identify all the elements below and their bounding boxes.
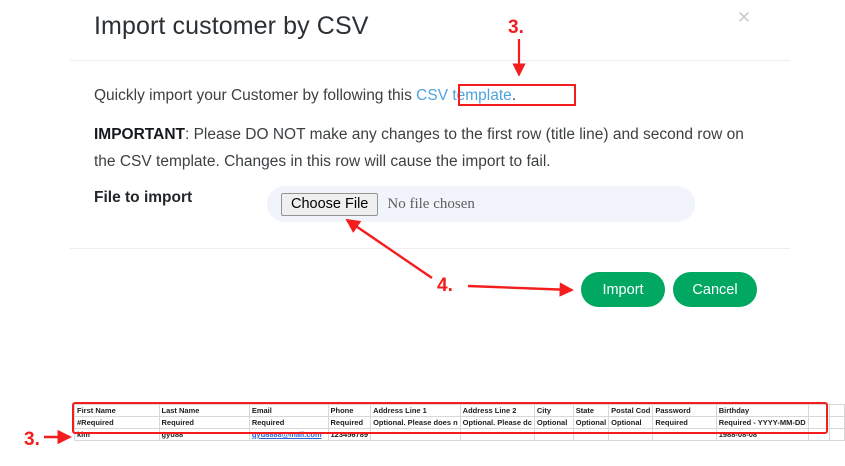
table-row: kimgyu88gyu8888@mail.com1234567891988-08… xyxy=(75,429,845,441)
table-cell: 1988-08-08 xyxy=(716,429,808,441)
table-cell: First Name xyxy=(75,405,160,417)
table-cell: Optional. Please dc xyxy=(460,417,534,429)
table-cell: Address Line 1 xyxy=(371,405,461,417)
lead-text-before: Quickly import your Customer by followin… xyxy=(94,87,416,104)
file-input-field[interactable]: Choose File No file chosen xyxy=(267,186,695,222)
table-cell: Required xyxy=(159,417,249,429)
table-cell xyxy=(808,429,830,441)
table-cell: Address Line 2 xyxy=(460,405,534,417)
modal-body-text: Quickly import your Customer by followin… xyxy=(94,82,744,175)
table-cell xyxy=(371,429,461,441)
no-file-chosen-text: No file chosen xyxy=(387,196,474,213)
table-cell xyxy=(573,429,608,441)
email-link[interactable]: gyu8888@mail.com xyxy=(252,430,322,439)
important-text: : Please DO NOT make any changes to the … xyxy=(94,126,744,170)
table-cell: Required xyxy=(249,417,328,429)
table-cell: Birthday xyxy=(716,405,808,417)
table-cell: Required xyxy=(653,417,716,429)
csv-preview-table: First NameLast NameEmailPhoneAddress Lin… xyxy=(74,404,845,441)
file-to-import-label: File to import xyxy=(94,189,192,207)
table-cell: #Required xyxy=(75,417,160,429)
table-cell: City xyxy=(534,405,573,417)
csv-link-highlight-box xyxy=(458,84,576,106)
table-cell: Password xyxy=(653,405,716,417)
table-cell: Email xyxy=(249,405,328,417)
close-icon[interactable]: ✕ xyxy=(733,7,755,29)
table-cell: gyu8888@mail.com xyxy=(249,429,328,441)
import-button[interactable]: Import xyxy=(581,272,665,307)
important-label: IMPORTANT xyxy=(94,126,185,143)
annotation-marker-4: 4. xyxy=(437,275,453,297)
table-cell: State xyxy=(573,405,608,417)
table-cell xyxy=(460,429,534,441)
table-cell xyxy=(609,429,653,441)
annotation-marker-3-link: 3. xyxy=(508,17,524,39)
table-cell: Optional xyxy=(609,417,653,429)
table-cell: kim xyxy=(75,429,160,441)
header-divider xyxy=(70,60,790,61)
table-cell: Required - YYYY-MM-DD xyxy=(716,417,808,429)
table-row: First NameLast NameEmailPhoneAddress Lin… xyxy=(75,405,845,417)
important-paragraph: IMPORTANT: Please DO NOT make any change… xyxy=(94,121,744,175)
table-cell xyxy=(808,417,830,429)
page-title: Import customer by CSV xyxy=(94,12,369,41)
import-csv-modal: Import customer by CSV ✕ Quickly import … xyxy=(0,0,790,386)
table-cell: Optional xyxy=(534,417,573,429)
table-cell: Optional xyxy=(573,417,608,429)
table-cell: Phone xyxy=(328,405,371,417)
table-cell: Postal Cod xyxy=(609,405,653,417)
footer-divider xyxy=(70,248,790,249)
table-cell: gyu88 xyxy=(159,429,249,441)
table-row: #RequiredRequiredRequiredRequiredOptiona… xyxy=(75,417,845,429)
cancel-button[interactable]: Cancel xyxy=(673,272,757,307)
table-cell xyxy=(534,429,573,441)
annotation-marker-3-sheet: 3. xyxy=(24,429,40,451)
table-cell xyxy=(653,429,716,441)
table-cell: Required xyxy=(328,417,371,429)
table-cell xyxy=(808,405,830,417)
table-cell xyxy=(830,405,845,417)
table-cell xyxy=(830,429,845,441)
table-cell: Optional. Please does n xyxy=(371,417,461,429)
lead-paragraph: Quickly import your Customer by followin… xyxy=(94,82,744,109)
table-cell: 123456789 xyxy=(328,429,371,441)
table-cell: Last Name xyxy=(159,405,249,417)
table-cell xyxy=(830,417,845,429)
choose-file-button[interactable]: Choose File xyxy=(281,193,378,216)
